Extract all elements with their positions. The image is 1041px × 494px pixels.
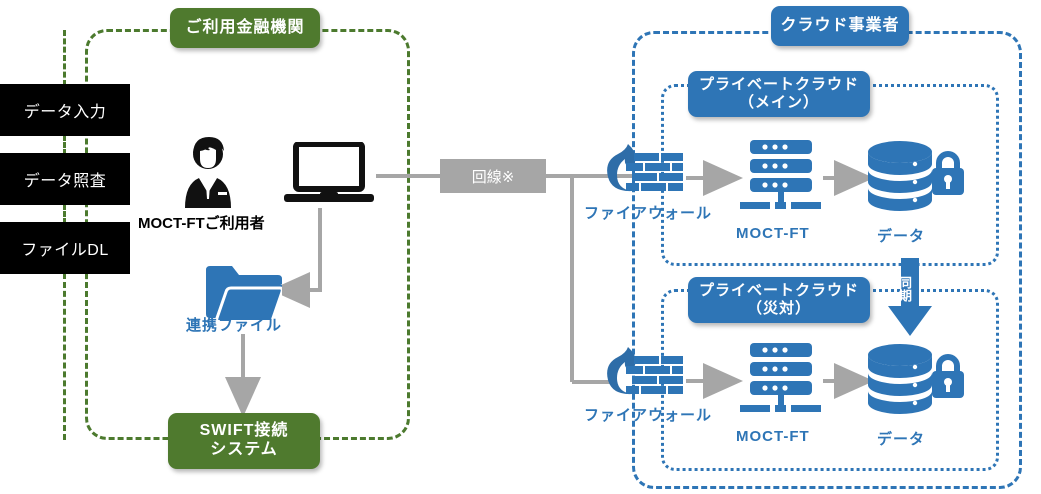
swift-label-line2: システム	[200, 441, 289, 460]
server-rack-icon	[738, 341, 824, 423]
firewall-icon	[604, 142, 686, 200]
step-connector-4	[63, 273, 66, 440]
bank-zone-boundary	[85, 29, 410, 440]
data-caption: データ	[877, 225, 925, 246]
database-cylinder-icon	[866, 140, 934, 218]
private-cloud-dr-sub: （災対）	[699, 300, 859, 318]
step-label: データ照査	[24, 167, 107, 191]
step-connector-1	[63, 30, 66, 86]
architecture-diagram: データ入力 データ照査 ファイルDL ご利用金融機関 MOCT-FTご利	[0, 0, 1041, 494]
private-cloud-dr-label: プライベートクラウド （災対）	[688, 277, 870, 323]
folder-caption: 連携ファイル	[186, 314, 282, 335]
step-box-data-verification[interactable]: データ照査	[0, 153, 130, 205]
firewall-icon	[604, 345, 686, 403]
businessman-icon	[172, 134, 244, 208]
step-box-data-entry[interactable]: データ入力	[0, 84, 130, 136]
swift-label-line1: SWIFT接続	[200, 422, 289, 441]
step-label: データ入力	[24, 98, 107, 122]
user-caption: MOCT-FTご利用者	[138, 212, 265, 233]
cloud-provider-label-text: クラウド事業者	[780, 17, 899, 36]
private-cloud-main-name: プライベートクラウド	[699, 76, 859, 94]
laptop-icon	[282, 142, 376, 208]
server-rack-icon	[738, 138, 824, 220]
network-line-box: 回線※	[440, 159, 546, 193]
bank-zone-label: ご利用金融機関	[170, 8, 320, 48]
network-line-label: 回線※	[472, 166, 515, 187]
private-cloud-dr-name: プライベートクラウド	[699, 282, 859, 300]
bank-zone-label-text: ご利用金融機関	[185, 19, 304, 38]
step-connector-2	[63, 135, 66, 155]
sync-label: 同期	[893, 276, 911, 302]
firewall-caption: ファイアウォール	[584, 404, 712, 425]
database-cylinder-icon	[866, 343, 934, 421]
padlock-icon	[930, 352, 966, 400]
padlock-icon	[930, 149, 966, 197]
step-label: ファイルDL	[21, 236, 108, 260]
step-connector-3	[63, 204, 66, 224]
data-caption: データ	[877, 428, 925, 449]
firewall-caption: ファイアウォール	[584, 202, 712, 223]
cloud-provider-label: クラウド事業者	[771, 6, 909, 46]
swift-connection-system-box[interactable]: SWIFT接続 システム	[168, 413, 320, 469]
private-cloud-main-label: プライベートクラウド （メイン）	[688, 71, 870, 117]
step-box-file-download[interactable]: ファイルDL	[0, 222, 130, 274]
private-cloud-main-sub: （メイン）	[699, 94, 859, 112]
server-caption: MOCT-FT	[736, 428, 810, 445]
server-caption: MOCT-FT	[736, 225, 810, 242]
folder-icon	[204, 264, 282, 320]
